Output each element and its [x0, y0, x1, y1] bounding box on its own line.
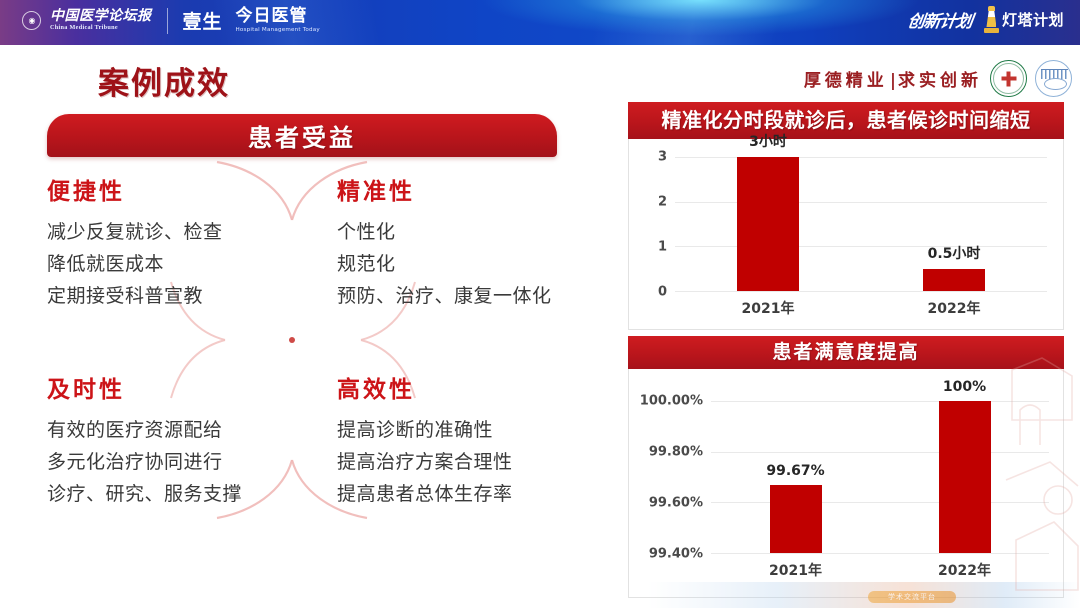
slide-root: ◉ 中国医学论坛报 China Medical Tribune 壹生 今日医管 …: [0, 0, 1080, 608]
patient-benefit-banner: 患者受益: [47, 114, 557, 157]
hospital-logo-secondary-icon: [1035, 60, 1072, 97]
lighthouse-icon: [984, 6, 999, 33]
chart-satisfaction: 患者满意度提高 100.00%99.80%99.60%99.40%2021年99…: [628, 336, 1064, 598]
cmt-name-en: China Medical Tribune: [50, 25, 152, 31]
quadrant-efficiency: 高效性 提高诊断的准确性 提高治疗方案合理性 提高患者总体生存率: [337, 370, 622, 511]
chart-title: 患者满意度提高: [628, 336, 1064, 369]
page-title: 案例成效: [98, 58, 230, 103]
y-axis-tick-label: 100.00%: [640, 394, 711, 409]
quadrant-item: 提高诊断的准确性: [337, 415, 622, 447]
motto-left: 厚德精业: [804, 71, 888, 91]
chart-gridline: 99.40%: [711, 553, 1049, 554]
y-axis-tick-label: 2: [658, 194, 675, 209]
x-axis-tick-label: 2021年: [742, 298, 795, 318]
bar-value-label: 0.5小时: [928, 243, 981, 263]
right-edge-watermark-decoration: [1002, 350, 1080, 608]
motto-text: 厚德精业|求实创新: [804, 66, 982, 91]
quadrant-item: 预防、治疗、康复一体化: [337, 281, 622, 313]
quadrant-convenience: 便捷性 减少反复就诊、检查 降低就医成本 定期接受科普宣教: [47, 172, 332, 313]
y-axis-tick-label: 99.40%: [649, 547, 711, 562]
brand-left-group: ◉ 中国医学论坛报 China Medical Tribune 壹生 今日医管 …: [22, 7, 320, 34]
cmt-wordmark: 中国医学论坛报 China Medical Tribune: [50, 9, 152, 31]
hospital-logo-primary-icon: [990, 60, 1027, 97]
benefit-quadrant-grid: 便捷性 减少反复就诊、检查 降低就医成本 定期接受科普宣教 精准性 个性化 规范…: [47, 172, 607, 542]
yisheng-logo: 壹生: [183, 7, 223, 34]
y-axis-tick-label: 1: [658, 239, 675, 254]
quadrant-heading: 精准性: [337, 172, 622, 206]
x-axis-tick-label: 2022年: [938, 560, 991, 580]
chart-bar: 99.67%: [770, 485, 822, 553]
chart-bar: 100%: [939, 401, 991, 553]
cmt-name-cn: 中国医学论坛报: [50, 9, 152, 23]
brand-right-group: 创新计划 灯塔计划: [908, 6, 1064, 33]
quadrant-item: 提高治疗方案合理性: [337, 447, 622, 479]
chart-plot-box: 32102021年3小时2022年0.5小时: [628, 139, 1064, 330]
chart-plot-box: 100.00%99.80%99.60%99.40%2021年99.67%2022…: [628, 369, 1064, 598]
quadrant-timeliness: 及时性 有效的医疗资源配给 多元化治疗协同进行 诊疗、研究、服务支撑: [47, 370, 332, 511]
quadrant-item: 定期接受科普宣教: [47, 281, 332, 313]
y-axis-tick-label: 99.60%: [649, 495, 711, 510]
chart-title: 精准化分时段就诊后，患者候诊时间缩短: [628, 102, 1064, 139]
y-axis-tick-label: 0: [658, 285, 675, 300]
chart-waiting-time: 精准化分时段就诊后，患者候诊时间缩短 32102021年3小时2022年0.5小…: [628, 102, 1064, 330]
bar-value-label: 100%: [943, 379, 986, 395]
watermark-chip-label: 学术交流平台: [868, 591, 956, 603]
motto-and-logos: 厚德精业|求实创新: [804, 60, 1072, 97]
lighthouse-plan-label: 灯塔计划: [1002, 9, 1064, 30]
quadrant-item: 诊疗、研究、服务支撑: [47, 479, 332, 511]
patient-benefit-label: 患者受益: [248, 118, 356, 153]
chart-plot-area: 32102021年3小时2022年0.5小时: [675, 157, 1047, 291]
bar-value-label: 3小时: [749, 131, 787, 151]
y-axis-tick-label: 99.80%: [649, 444, 711, 459]
x-axis-tick-label: 2022年: [928, 298, 981, 318]
hmt-name-en: Hospital Management Today: [236, 28, 320, 34]
motto-separator: |: [890, 71, 896, 91]
cmt-seal-icon: ◉: [22, 11, 41, 30]
brand-header-band: ◉ 中国医学论坛报 China Medical Tribune 壹生 今日医管 …: [0, 0, 1080, 45]
motto-right: 求实创新: [898, 71, 982, 91]
quadrant-item: 减少反复就诊、检查: [47, 217, 332, 249]
quadrant-item: 降低就医成本: [47, 249, 332, 281]
y-axis-tick-label: 3: [658, 150, 675, 165]
quadrant-item: 多元化治疗协同进行: [47, 447, 332, 479]
hmt-wordmark: 今日医管 Hospital Management Today: [236, 8, 320, 34]
quadrant-item: 提高患者总体生存率: [337, 479, 622, 511]
chart-bar: 3小时: [737, 157, 799, 291]
lighthouse-plan-group: 灯塔计划: [984, 6, 1064, 33]
quadrant-heading: 及时性: [47, 370, 332, 404]
quadrant-item: 有效的医疗资源配给: [47, 415, 332, 447]
chart-gridline: 0: [675, 291, 1047, 292]
quadrant-heading: 高效性: [337, 370, 622, 404]
innovation-plan-logo: 创新计划: [906, 7, 974, 32]
chart-bar: 0.5小时: [923, 269, 985, 291]
quadrant-heading: 便捷性: [47, 172, 332, 206]
quadrant-precision: 精准性 个性化 规范化 预防、治疗、康复一体化: [337, 172, 622, 313]
watermark-chip: 学术交流平台: [868, 591, 956, 603]
bar-value-label: 99.67%: [766, 463, 824, 479]
quadrant-item: 规范化: [337, 249, 622, 281]
chart-plot-area: 100.00%99.80%99.60%99.40%2021年99.67%2022…: [711, 401, 1049, 553]
hmt-name-cn: 今日医管: [236, 8, 320, 25]
quadrant-item: 个性化: [337, 217, 622, 249]
brand-divider: [167, 8, 168, 34]
x-axis-tick-label: 2021年: [769, 560, 822, 580]
